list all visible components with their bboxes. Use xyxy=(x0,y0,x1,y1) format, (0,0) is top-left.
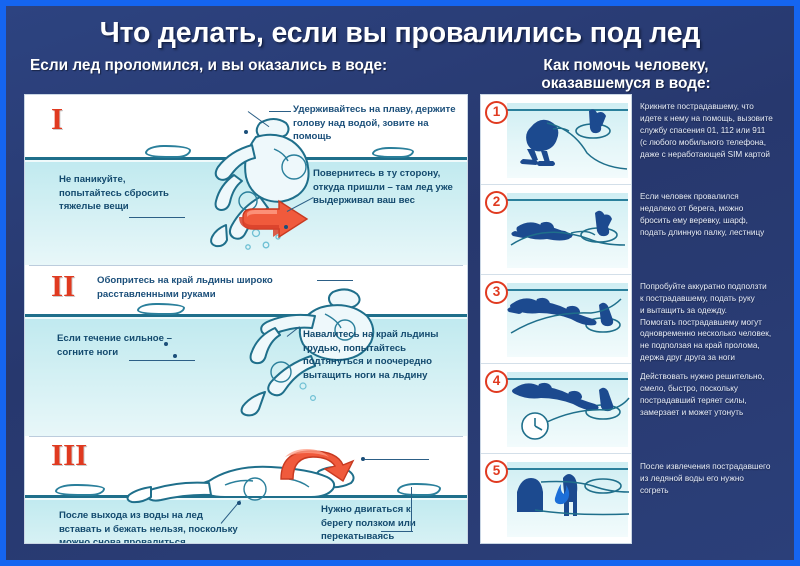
ice-background xyxy=(507,103,628,178)
subheading-row: Если лед проломился, и вы оказались в во… xyxy=(6,57,794,93)
illustration-step-3 xyxy=(507,285,631,355)
ice-background xyxy=(507,283,628,358)
subheading-right-line2: оказавшемуся в воде: xyxy=(470,75,782,93)
leader-dot xyxy=(361,457,365,461)
caption-1b: Удерживайтесь на плаву, держите голову н… xyxy=(293,103,467,144)
illustration-step-2 xyxy=(507,195,631,265)
ice-background xyxy=(507,372,628,447)
help-step-cell-4: 4 xyxy=(481,364,631,454)
leader-dot xyxy=(173,354,177,358)
step-number-4: 4 xyxy=(485,370,508,393)
leader-dot xyxy=(284,225,288,229)
help-step-text-4: Действовать нужно решительно, смело, быс… xyxy=(640,364,782,454)
caption-3b: Нужно двигаться к берегу ползком или пер… xyxy=(321,503,416,544)
poster-background: Что делать, если вы провалились под лед … xyxy=(6,6,794,560)
leader-line xyxy=(411,487,412,531)
subheading-right: Как помочь человеку, оказавшемуся в воде… xyxy=(470,57,782,93)
illustration-step-1 xyxy=(507,105,631,175)
caption-1c: Повернитесь в ту сторону, откуда пришли … xyxy=(313,167,453,208)
leader-dot xyxy=(244,130,248,134)
step-panel-2: II Обопритесь на край льдины широко расс… xyxy=(25,266,467,436)
roman-numeral-1: I xyxy=(51,103,63,134)
ice-chunk xyxy=(372,147,414,158)
help-steps-illustrations: 1 xyxy=(480,94,632,544)
caption-1a: Не паникуйте, попытайтесь сбросить тяжел… xyxy=(59,173,169,214)
direction-arrow-icon-2 xyxy=(275,445,361,485)
leader-dot xyxy=(237,501,241,505)
step-panel-1: I xyxy=(25,95,467,265)
subheading-right-line1: Как помочь человеку, xyxy=(470,57,782,75)
leader-line xyxy=(129,217,185,218)
help-step-cell-5: 5 xyxy=(481,454,631,543)
page-title: Что делать, если вы провалились под лед xyxy=(6,6,794,50)
help-step-text-2: Если человек провалился недалеко от бере… xyxy=(640,184,782,274)
leader-line xyxy=(269,111,291,112)
help-step-cell-1: 1 xyxy=(481,95,631,185)
step-number-2: 2 xyxy=(485,191,508,214)
help-step-text-1: Крикните пострадавшему, что идете к нему… xyxy=(640,94,782,184)
subheading-left: Если лед проломился, и вы оказались в во… xyxy=(18,57,470,93)
step-panel-3: III xyxy=(25,437,467,544)
leader-line xyxy=(129,360,195,361)
ice-chunk xyxy=(55,484,105,496)
direction-arrow-icon-1 xyxy=(239,203,311,255)
ice-background xyxy=(507,462,628,537)
leader-line xyxy=(381,531,413,532)
ice-chunk xyxy=(145,145,191,158)
ice-chunk xyxy=(137,303,185,315)
illustration-step-4 xyxy=(507,374,631,444)
help-step-text-5: После извлечения пострадавшего из ледяно… xyxy=(640,454,782,544)
help-steps-text-column: Крикните пострадавшему, что идете к нему… xyxy=(640,94,782,544)
help-others-panel: 1 xyxy=(480,94,782,544)
self-rescue-panel: I xyxy=(24,94,468,544)
ice-chunk xyxy=(397,483,441,496)
leader-line xyxy=(365,459,429,460)
roman-numeral-2: II xyxy=(51,270,75,301)
help-step-cell-2: 2 xyxy=(481,185,631,275)
help-step-text-3: Попробуйте аккуратно подползти к пострад… xyxy=(640,274,782,364)
ice-background xyxy=(507,193,628,268)
caption-2c: Навалитесь на край льдины грудью, попыта… xyxy=(303,328,439,382)
step-number-1: 1 xyxy=(485,101,508,124)
leader-dot xyxy=(164,342,168,346)
content-columns: I xyxy=(24,94,782,544)
caption-3a: После выхода из воды на лед вставать и б… xyxy=(59,509,238,544)
poster-frame: Что делать, если вы провалились под лед … xyxy=(0,0,800,566)
help-step-cell-3: 3 xyxy=(481,275,631,365)
caption-2b: Если течение сильное – согните ноги xyxy=(57,332,172,359)
step-number-5: 5 xyxy=(485,460,508,483)
illustration-step-5 xyxy=(507,464,631,530)
step-number-3: 3 xyxy=(485,281,508,304)
roman-numeral-3: III xyxy=(51,439,87,470)
